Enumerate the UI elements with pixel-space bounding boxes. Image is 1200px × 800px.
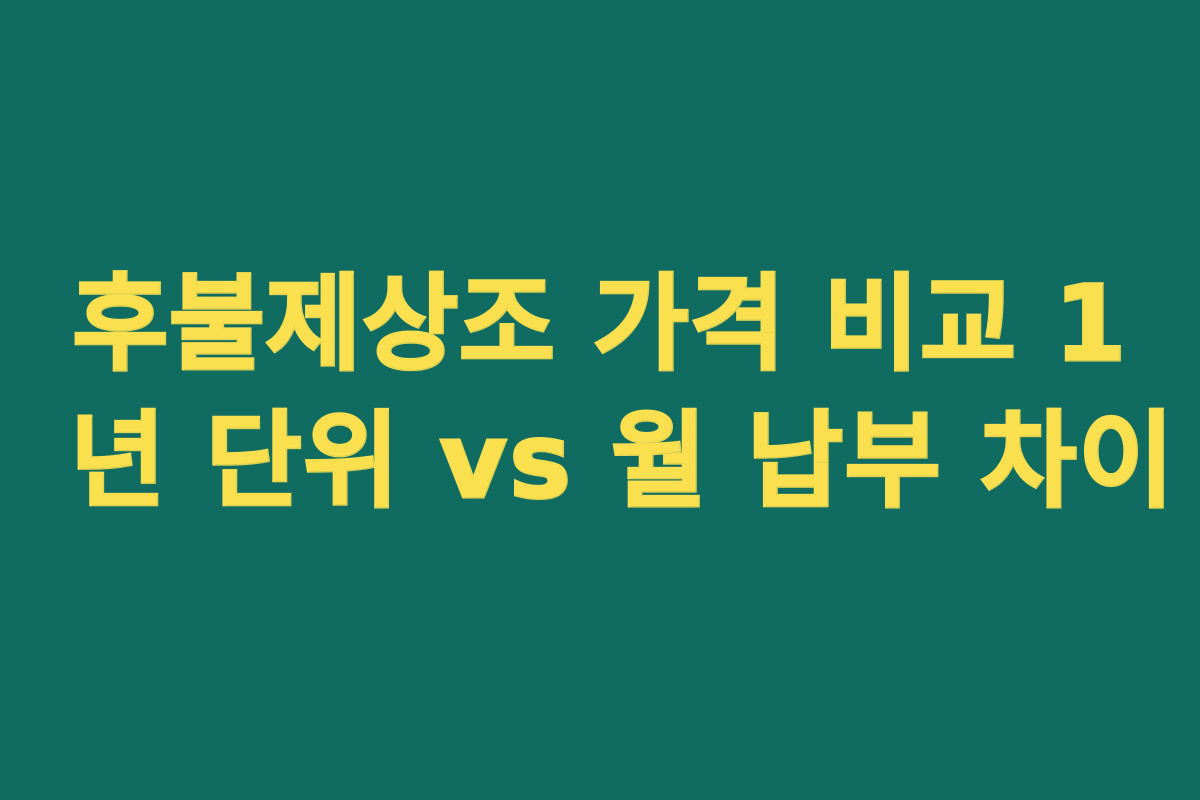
- thumbnail-banner: 후불제상조 가격 비교 1 년 단위 vs 월 납부 차이: [0, 0, 1200, 800]
- title-line-1: 후불제상조 가격 비교 1: [70, 256, 1130, 393]
- page-title: 후불제상조 가격 비교 1 년 단위 vs 월 납부 차이: [70, 256, 1130, 531]
- title-line-2: 년 단위 vs 월 납부 차이: [70, 393, 1130, 530]
